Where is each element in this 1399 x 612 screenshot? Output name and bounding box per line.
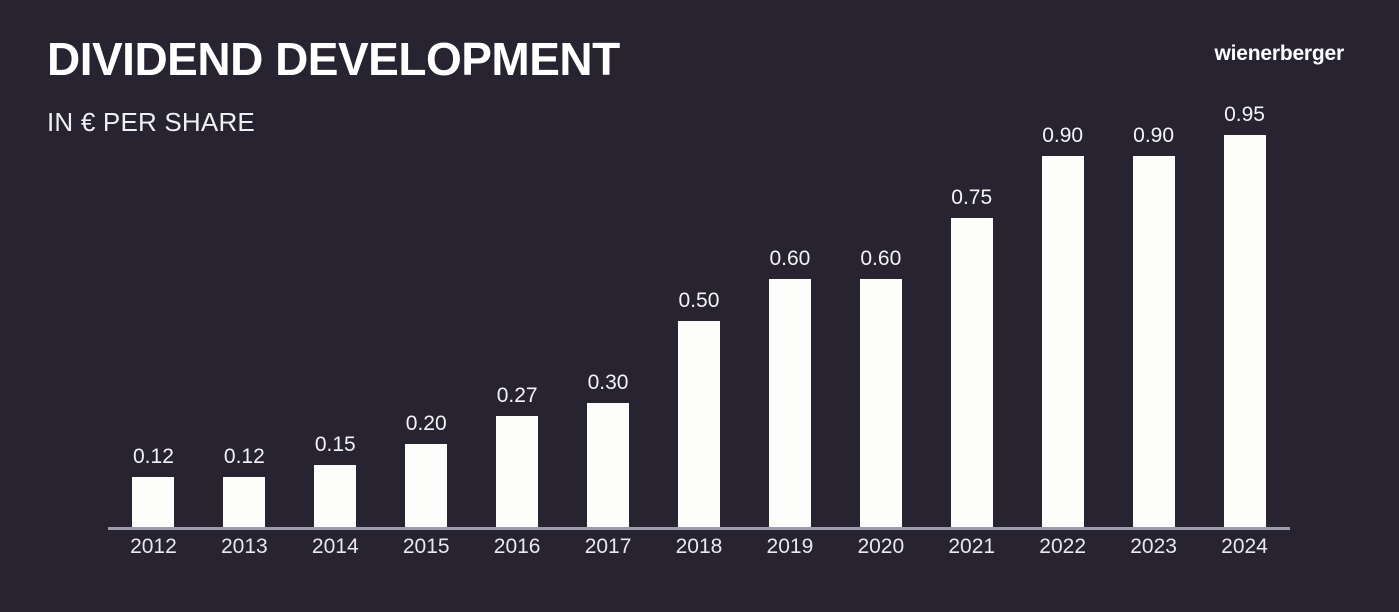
x-tick-slot: 2012 [108,536,199,557]
x-tick-label: 2014 [290,536,381,557]
slide-root: DIVIDEND DEVELOPMENT IN € PER SHARE wien… [0,0,1399,612]
bar-value-label: 0.60 [860,248,901,269]
bar[interactable] [314,465,356,527]
bar-slot: 0.50 [654,90,745,527]
x-tick-slot: 2018 [654,536,745,557]
page-title: DIVIDEND DEVELOPMENT [47,36,620,82]
x-tick-label: 2020 [835,536,926,557]
bar-value-label: 0.90 [1133,125,1174,146]
bar-slot: 0.90 [1017,90,1108,527]
bar[interactable] [860,279,902,527]
x-tick-slot: 2024 [1199,536,1290,557]
bar-value-label: 0.27 [497,385,538,406]
bar[interactable] [678,321,720,527]
bar-value-label: 0.30 [588,372,629,393]
x-tick-slot: 2021 [926,536,1017,557]
bar-slot: 0.12 [108,90,199,527]
x-tick-slot: 2022 [1017,536,1108,557]
bar-value-label: 0.75 [951,187,992,208]
bar-value-label: 0.20 [406,413,447,434]
x-tick-label: 2021 [926,536,1017,557]
x-tick-slot: 2023 [1108,536,1199,557]
bar[interactable] [1224,135,1266,527]
x-axis-labels: 2012201320142015201620172018201920202021… [108,536,1290,576]
x-tick-slot: 2017 [563,536,654,557]
bar-slot: 0.27 [472,90,563,527]
chart-plot-area: 0.120.120.150.200.270.300.500.600.600.75… [108,90,1290,530]
bar[interactable] [496,416,538,527]
x-tick-label: 2023 [1108,536,1199,557]
x-axis-line [108,527,1290,530]
bar-slot: 0.75 [926,90,1017,527]
x-tick-slot: 2013 [199,536,290,557]
x-tick-label: 2012 [108,536,199,557]
bar-value-label: 0.90 [1042,125,1083,146]
bar-slot: 0.60 [744,90,835,527]
bar[interactable] [951,218,993,527]
bar-slot: 0.90 [1108,90,1199,527]
bar[interactable] [405,444,447,527]
bar-value-label: 0.60 [769,248,810,269]
bar-series: 0.120.120.150.200.270.300.500.600.600.75… [108,90,1290,527]
x-tick-slot: 2020 [835,536,926,557]
x-tick-slot: 2019 [744,536,835,557]
wienerberger-logo: wienerberger [1215,43,1345,64]
bar[interactable] [223,477,265,527]
bar-slot: 0.15 [290,90,381,527]
x-tick-label: 2019 [744,536,835,557]
bar-value-label: 0.12 [133,446,174,467]
x-tick-label: 2017 [563,536,654,557]
x-tick-label: 2024 [1199,536,1290,557]
bar[interactable] [769,279,811,527]
bar-value-label: 0.12 [224,446,265,467]
x-tick-slot: 2014 [290,536,381,557]
x-tick-label: 2015 [381,536,472,557]
bar-slot: 0.30 [563,90,654,527]
bar-value-label: 0.50 [679,290,720,311]
x-tick-label: 2022 [1017,536,1108,557]
bar[interactable] [1042,156,1084,527]
bar[interactable] [132,477,174,527]
bar-value-label: 0.95 [1224,104,1265,125]
bar[interactable] [587,403,629,527]
bar[interactable] [1133,156,1175,527]
bar-slot: 0.95 [1199,90,1290,527]
bar-slot: 0.20 [381,90,472,527]
bar-value-label: 0.15 [315,434,356,455]
bar-slot: 0.60 [835,90,926,527]
x-tick-slot: 2016 [472,536,563,557]
bar-slot: 0.12 [199,90,290,527]
x-tick-label: 2016 [472,536,563,557]
x-tick-slot: 2015 [381,536,472,557]
x-tick-label: 2018 [654,536,745,557]
x-tick-label: 2013 [199,536,290,557]
